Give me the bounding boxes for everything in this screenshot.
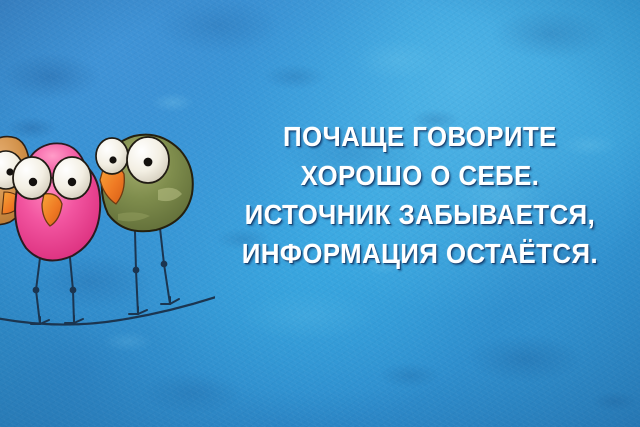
pink-bird-right-eye [53,157,91,199]
green-bird-right-eye [127,137,169,183]
green-bird-legs [129,228,179,314]
motivational-poster: ПОЧАЩЕ ГОВОРИТЕ ХОРОШО О СЕБЕ. ИСТОЧНИК … [0,0,640,427]
birds-on-wire-illustration [0,118,215,358]
pink-bird-left-eye [13,157,51,199]
caption-line-4: ИНФОРМАЦИЯ ОСТАЁТСЯ. [227,239,613,268]
pink-bird [13,143,100,324]
caption-line-1: ПОЧАЩЕ ГОВОРИТЕ [227,122,613,151]
caption-block: ПОЧАЩЕ ГОВОРИТЕ ХОРОШО О СЕБЕ. ИСТОЧНИК … [210,122,630,268]
caption-line-2: ХОРОШО О СЕБЕ. [227,161,613,190]
green-bird [96,135,193,314]
caption-line-3: ИСТОЧНИК ЗАБЫВАЕТСЯ, [227,200,613,229]
green-bird-left-eye [96,138,128,174]
pink-bird-legs [31,258,83,324]
wire [0,296,215,325]
